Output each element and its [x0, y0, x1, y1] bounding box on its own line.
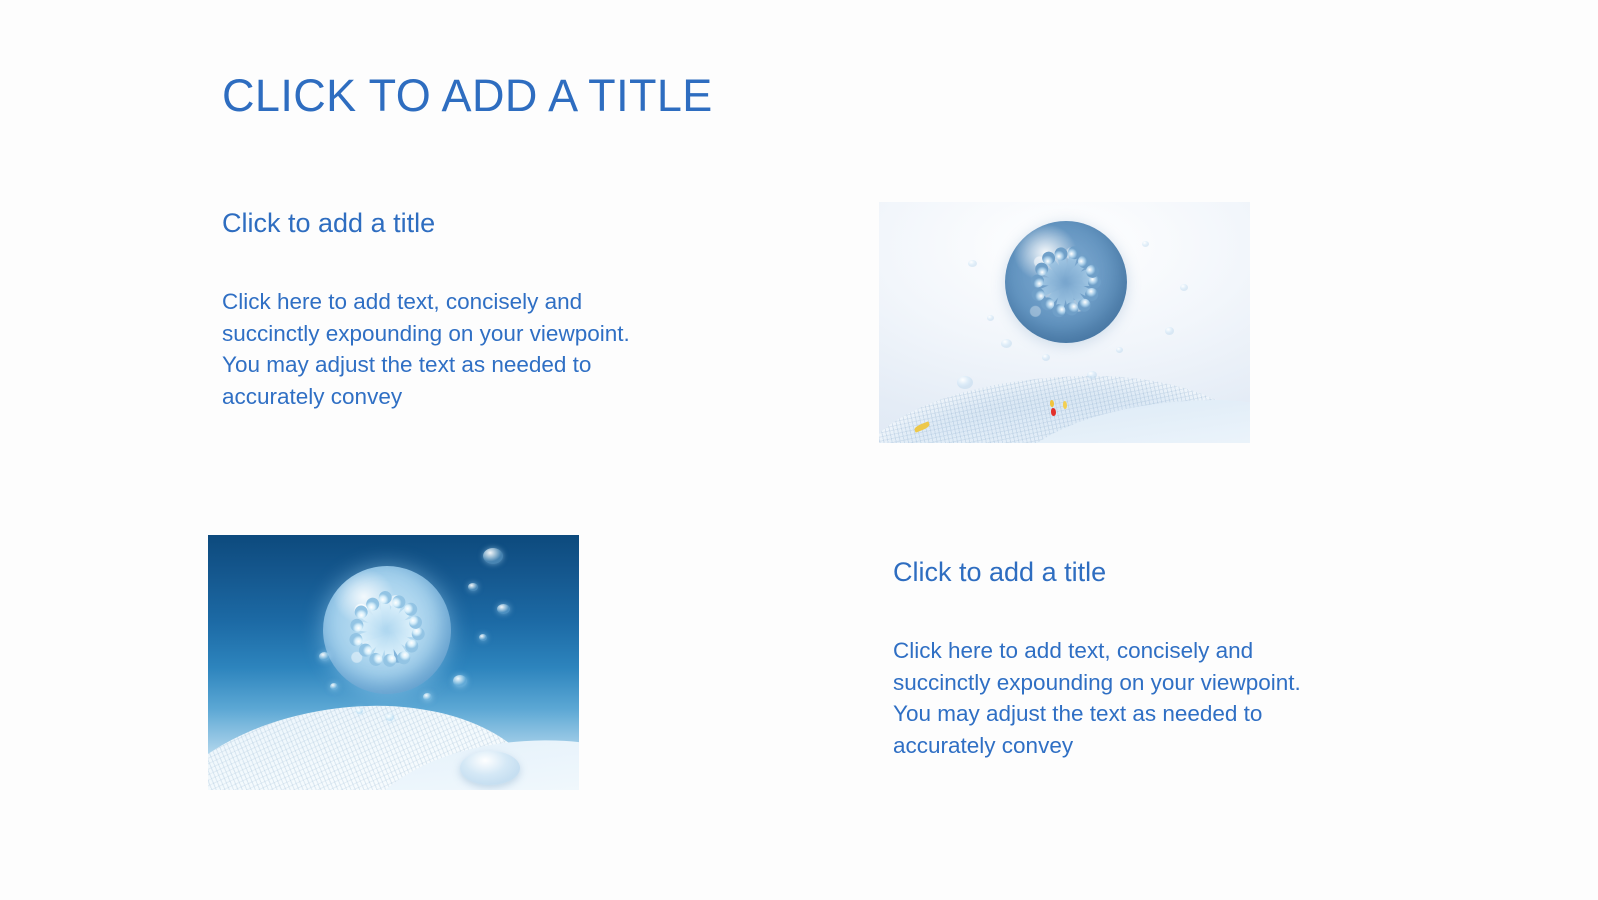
- coronavirus-particle-icon: [1005, 221, 1127, 343]
- yellow-speck-icon: [1063, 401, 1067, 409]
- droplet-icon: [968, 260, 977, 267]
- block-heading-top-left[interactable]: Click to add a title: [222, 206, 642, 240]
- coronavirus-particle-icon: [323, 566, 451, 694]
- slide-canvas: CLICK TO ADD A TITLE Click to add a titl…: [0, 0, 1598, 900]
- image-top-right[interactable]: [879, 202, 1250, 443]
- droplet-icon: [1116, 347, 1123, 353]
- block-body-bottom-right[interactable]: Click here to add text, concisely and su…: [893, 635, 1313, 761]
- droplet-icon: [1180, 284, 1188, 291]
- page-title[interactable]: CLICK TO ADD A TITLE: [222, 68, 713, 124]
- droplet-icon: [497, 604, 510, 614]
- droplet-icon: [386, 714, 394, 721]
- droplet-icon: [423, 693, 432, 701]
- droplet-icon: [957, 376, 973, 389]
- droplet-icon: [1142, 241, 1149, 247]
- droplet-icon: [1042, 354, 1050, 361]
- droplet-icon: [1165, 327, 1174, 335]
- droplet-icon: [483, 548, 503, 564]
- red-speck-icon: [1051, 408, 1056, 416]
- droplet-icon: [468, 583, 478, 591]
- droplet-icon: [479, 634, 487, 641]
- content-block-bottom-right: Click to add a title Click here to add t…: [893, 555, 1313, 761]
- droplet-icon: [453, 675, 467, 687]
- content-block-top-left: Click to add a title Click here to add t…: [222, 206, 642, 412]
- yellow-speck-icon: [1050, 400, 1054, 407]
- droplet-icon: [987, 315, 994, 321]
- droplet-icon: [1087, 371, 1097, 379]
- water-droplet-icon: [460, 751, 520, 785]
- droplet-icon: [1001, 339, 1012, 348]
- image-bottom-left[interactable]: [208, 535, 579, 790]
- block-heading-bottom-right[interactable]: Click to add a title: [893, 555, 1313, 589]
- block-body-top-left[interactable]: Click here to add text, concisely and su…: [222, 286, 642, 412]
